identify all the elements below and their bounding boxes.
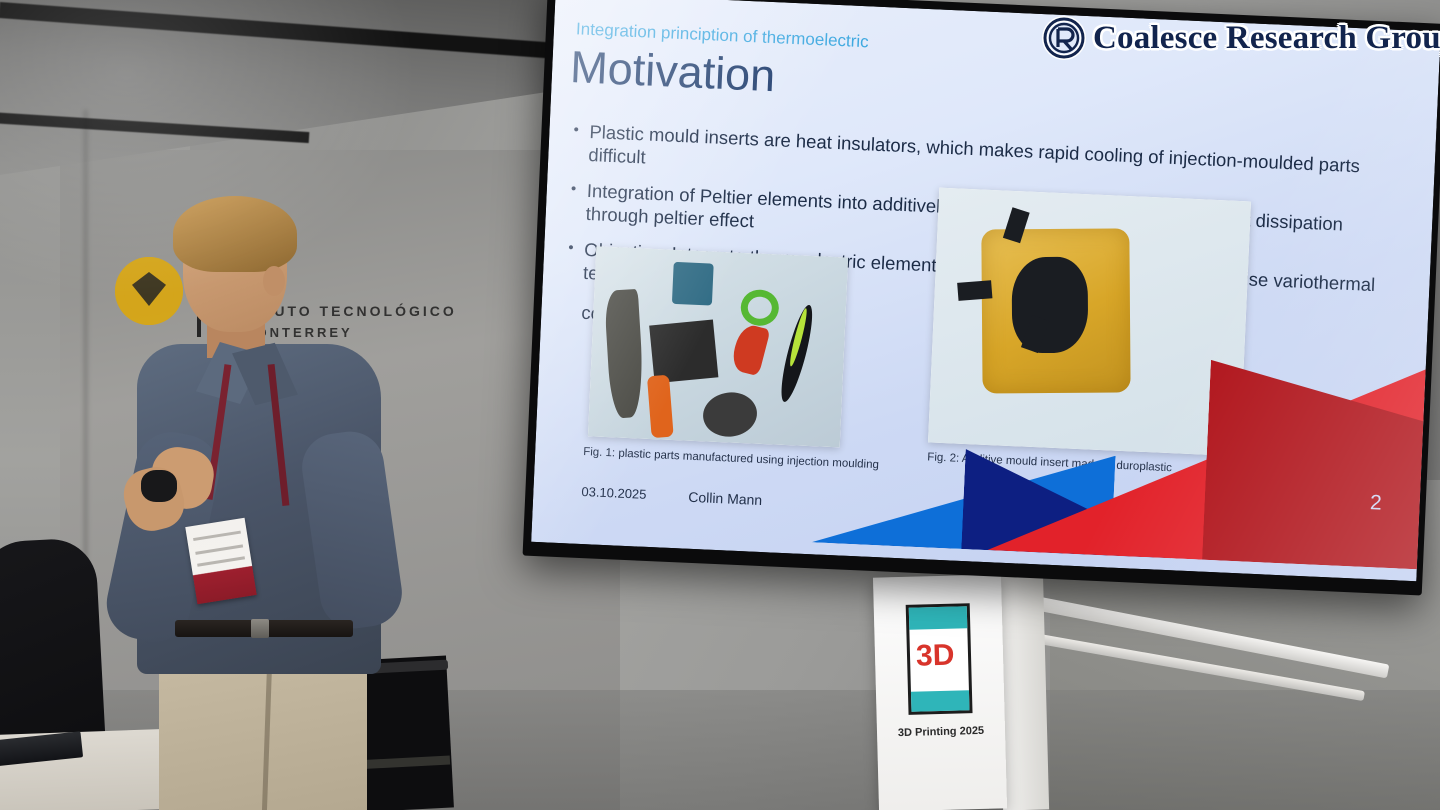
screenshot-root: AS INSTITUTO TECNOLÓGICO DE MONTERREY xyxy=(0,0,1440,810)
part-blue-block xyxy=(672,262,714,306)
watermark: Coalesce Research Group xyxy=(1042,16,1440,60)
figure-2-caption: Fig. 2: Additive mould insert made of du… xyxy=(927,451,1172,474)
presenter xyxy=(115,196,425,810)
figure-1-photo xyxy=(588,246,848,447)
slide-title: Motivation xyxy=(569,41,776,102)
event-banner: 3D 3D Printing 2025 xyxy=(873,574,1007,810)
figure-1-image xyxy=(588,246,848,447)
bullet-marker-icon: • xyxy=(573,119,590,142)
figure-2-photo xyxy=(928,188,1251,457)
badge-line-2 xyxy=(195,544,243,554)
banner-logo-bottom-bar xyxy=(911,690,970,712)
display-panel: Integration princiption of thermoelectri… xyxy=(531,0,1440,581)
figure-1-caption: Fig. 1: plastic parts manufactured using… xyxy=(583,446,879,471)
presenter-hair xyxy=(173,196,297,272)
event-banner-logo-icon: 3D xyxy=(906,603,973,715)
bullet-marker-icon: • xyxy=(568,237,585,260)
slide: Integration princiption of thermoelectri… xyxy=(531,0,1440,581)
part-black-oval xyxy=(700,389,759,440)
slide-author: Collin Mann xyxy=(688,489,763,508)
presenter-ear xyxy=(263,266,285,296)
part-red-whistle xyxy=(729,322,770,376)
slide-date: 03.10.2025 xyxy=(581,484,647,502)
figure-2-image xyxy=(928,188,1251,457)
insert-cavity-arm-left xyxy=(957,280,992,301)
part-black-green-handle xyxy=(776,303,819,404)
watermark-brand-text: Coalesce Research Group xyxy=(1093,20,1440,57)
part-black-plate xyxy=(649,319,718,383)
banner-logo-text: 3D xyxy=(916,640,963,685)
part-green-ring xyxy=(740,289,780,327)
event-banner-title: 3D Printing 2025 xyxy=(885,725,997,740)
coalesce-logo-icon xyxy=(1042,16,1086,60)
insert-cavity-arm-top xyxy=(1003,207,1030,243)
badge-line-3 xyxy=(197,556,245,566)
banner-logo-top-bar xyxy=(909,606,968,630)
duroplastic-insert xyxy=(981,228,1130,393)
belt-buckle xyxy=(251,619,269,638)
part-orange-strip xyxy=(647,375,674,439)
presentation-clicker xyxy=(141,470,177,502)
presentation-display: Integration princiption of thermoelectri… xyxy=(523,0,1440,595)
bullet-marker-icon: • xyxy=(570,178,587,201)
badge-line-1 xyxy=(193,531,241,541)
slide-page-number: 2 xyxy=(1369,491,1382,515)
conference-badge xyxy=(185,518,256,604)
part-hook xyxy=(604,289,646,419)
